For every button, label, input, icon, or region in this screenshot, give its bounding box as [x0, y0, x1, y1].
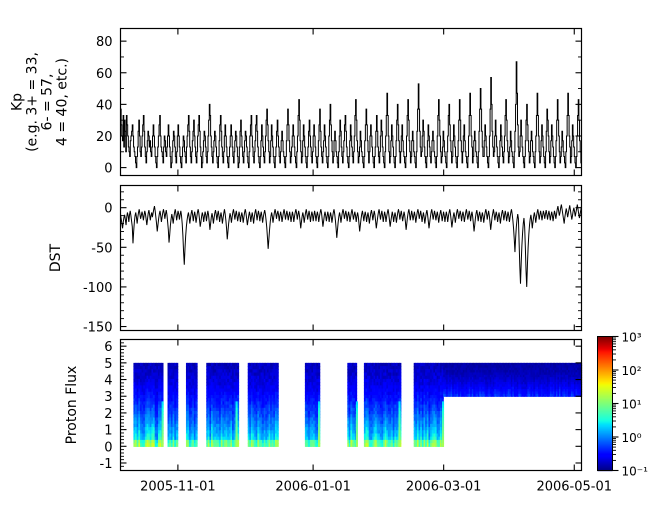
pf-cell-spike [236, 443, 238, 447]
kp-ylabel-line: Kp [10, 93, 26, 111]
kp-ytick-label: 80 [96, 35, 113, 50]
pf-cell-spike [398, 443, 400, 447]
xaxis-tick-label: 2005-11-01 [140, 480, 216, 495]
pf-cell [195, 443, 197, 447]
dst-yticks: 0-50-100-150 [83, 192, 582, 336]
colorbar-tick-label: 10⁰ [622, 431, 642, 445]
dst-axes-frame [121, 186, 582, 331]
kp-ytick-label: 20 [96, 130, 113, 145]
kp-ytick-label: 60 [96, 67, 113, 82]
dst-series-line [121, 205, 582, 287]
pf-ytick-label: 4 [104, 374, 112, 389]
kp-ytick-label: 0 [104, 162, 112, 177]
kp-panel: 020406080 [96, 29, 582, 177]
pf-ytick-label: 3 [104, 390, 112, 405]
figure-svg: 020406080Kp(e.g. 3+ = 33,6- = 57,4 = 40,… [0, 0, 665, 523]
pf-ylabel: Proton Flux [64, 366, 80, 445]
pf-ytick-label: 5 [104, 357, 112, 372]
pf-cell [176, 443, 178, 447]
kp-series-line [121, 62, 582, 168]
kp-ylabel-line: 6- = 57, [40, 74, 56, 131]
dst-ytick-label: 0 [104, 202, 112, 217]
dst-ytick-label: -150 [83, 321, 113, 336]
pf-cell-spike [162, 443, 164, 447]
pf-cell-spike [442, 443, 444, 447]
colorbar-tick-label: 10³ [622, 331, 642, 345]
colorbar-tick-label: 10⁻¹ [622, 465, 649, 479]
dst-ylabel: DST [48, 243, 64, 272]
pf-cell-spike [318, 443, 320, 447]
pf-ytick-label: 0 [104, 440, 112, 455]
xaxis-tick-label: 2006-01-01 [275, 480, 351, 495]
pf-cell [277, 443, 279, 447]
kp-ylabel-line: (e.g. 3+ = 33, [25, 52, 41, 152]
dst-ytick-label: -100 [83, 281, 113, 296]
dst-ytick-label: -50 [91, 241, 112, 256]
colorbar-tick-label: 10² [622, 364, 642, 378]
kp-ylabel-line: 4 = 40, etc.) [55, 58, 71, 146]
figure-root: 020406080Kp(e.g. 3+ = 33,6- = 57,4 = 40,… [0, 0, 665, 523]
pf-ytick-label: 2 [104, 407, 112, 422]
colorbar: 10³10²10¹10⁰10⁻¹ [598, 331, 649, 479]
pf-cell-spike [356, 443, 358, 447]
pf-ytick-label: 1 [104, 424, 112, 439]
dst-xticks [178, 186, 574, 331]
pf-ytick-label: -1 [100, 457, 113, 472]
kp-ytick-label: 40 [96, 98, 113, 113]
pf-ytick-label: 6 [104, 340, 112, 355]
xaxis-tick-label: 2006-05-01 [536, 480, 612, 495]
colorbar-tick-label: 10¹ [622, 398, 642, 412]
proton-flux-panel: -101234562005-11-012006-01-012006-03-012… [64, 340, 612, 495]
dst-panel: 0-50-100-150DST [48, 186, 582, 336]
kp-ylabel: Kp(e.g. 3+ = 33,6- = 57,4 = 40, etc.) [10, 52, 71, 152]
xaxis-tick-label: 2006-03-01 [406, 480, 482, 495]
